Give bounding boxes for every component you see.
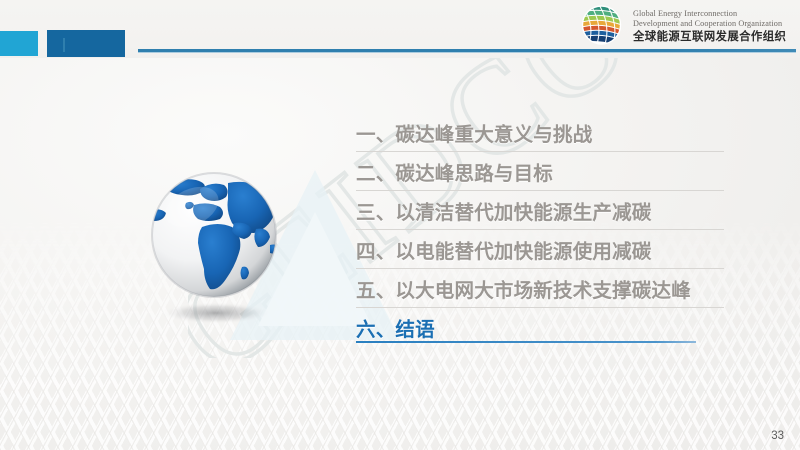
agenda-item-1-label: 一、碳达峰重大意义与挑战: [356, 118, 592, 147]
agenda-item-6-label: 六、结语: [356, 313, 435, 342]
header-divider-rule: [138, 49, 796, 53]
geidco-logo: Global Energy Interconnection Developmen…: [578, 3, 786, 47]
agenda-list: 一、碳达峰重大意义与挑战 二、碳达峰思路与目标 三、以清洁替代加快能源生产减碳 …: [356, 113, 724, 346]
logo-line-en-1: Global Energy Interconnection: [633, 9, 786, 18]
header-accent-square-cyan: [0, 31, 38, 56]
page-number: 33: [771, 430, 784, 442]
logo-text-block: Global Energy Interconnection Developmen…: [633, 7, 786, 42]
globe-logo-icon: [578, 3, 625, 47]
agenda-item-2-label: 二、碳达峰思路与目标: [356, 157, 553, 186]
agenda-item-4[interactable]: 四、以电能替代加快能源使用减碳: [356, 230, 724, 269]
header-accent-square-blue: [47, 30, 125, 57]
logo-line-cn: 全球能源互联网发展合作组织: [633, 30, 786, 43]
slide-header: Global Energy Interconnection Developmen…: [0, 0, 800, 58]
agenda-active-underline: [356, 341, 696, 343]
agenda-item-3[interactable]: 三、以清洁替代加快能源生产减碳: [356, 191, 724, 230]
logo-line-en-2: Development and Cooperation Organization: [633, 19, 786, 28]
slide-canvas: GEIDCO: [0, 0, 800, 450]
agenda-item-2[interactable]: 二、碳达峰思路与目标: [356, 152, 724, 191]
agenda-item-4-label: 四、以电能替代加快能源使用减碳: [356, 235, 652, 264]
agenda-item-1[interactable]: 一、碳达峰重大意义与挑战: [356, 113, 724, 152]
agenda-item-3-label: 三、以清洁替代加快能源生产减碳: [356, 196, 652, 225]
agenda-item-5-label: 五、以大电网大市场新技术支撑碳达峰: [356, 274, 691, 303]
agenda-item-5[interactable]: 五、以大电网大市场新技术支撑碳达峰: [356, 269, 724, 308]
header-tick-mark: [63, 38, 65, 52]
